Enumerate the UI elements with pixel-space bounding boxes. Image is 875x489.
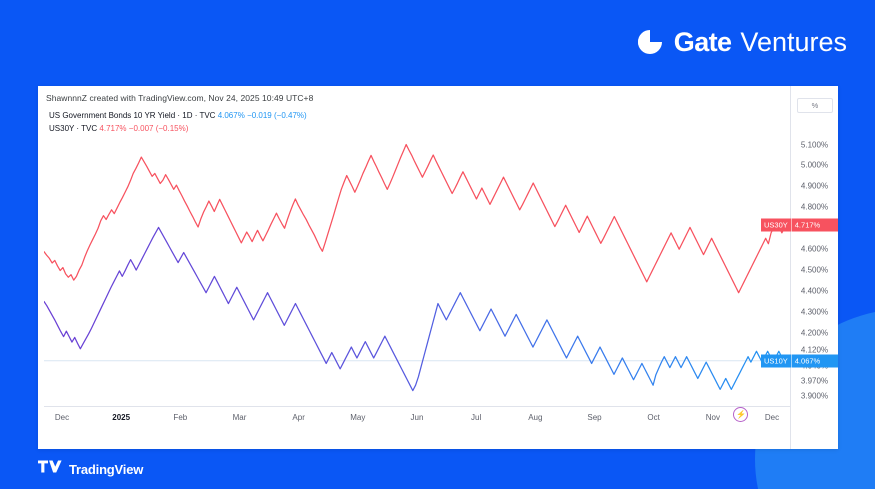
price-axis-tick: 4.800% xyxy=(791,203,838,212)
price-axis-tick: 4.200% xyxy=(791,328,838,337)
price-axis-tick: 4.400% xyxy=(791,287,838,296)
time-axis-tick: Apr xyxy=(292,413,304,422)
time-axis-tick: Jun xyxy=(411,413,424,422)
price-axis-tick: 5.000% xyxy=(791,161,838,170)
time-axis-tick: May xyxy=(350,413,365,422)
time-axis-tick: Dec xyxy=(55,413,69,422)
price-tag-symbol: US10Y xyxy=(761,354,791,367)
time-axis-tick: Aug xyxy=(528,413,542,422)
chart-plot-area[interactable] xyxy=(44,132,790,404)
time-axis-tick: Nov xyxy=(706,413,720,422)
series-line-us30y xyxy=(44,145,790,293)
price-axis-tick: 4.300% xyxy=(791,307,838,316)
price-tag-us30y[interactable]: US30Y4.717% xyxy=(761,218,838,231)
chart-attribution: ShawnnnZ created with TradingView.com, N… xyxy=(46,93,313,103)
legend-last-us10y: 4.067% xyxy=(218,111,245,120)
legend-change-us10y: −0.019 xyxy=(247,111,272,120)
brand-suffix: Ventures xyxy=(740,29,847,56)
price-axis-tick: 4.500% xyxy=(791,266,838,275)
legend-change-pct-us10y: (−0.47%) xyxy=(274,111,307,120)
time-axis-tick: 2025 xyxy=(112,413,130,422)
time-axis-tick: Mar xyxy=(233,413,247,422)
tradingview-footer-text: TradingView xyxy=(69,462,143,477)
gate-logo-icon xyxy=(635,27,665,57)
chart-card: ShawnnnZ created with TradingView.com, N… xyxy=(38,86,838,449)
price-tag-value: 4.067% xyxy=(791,354,823,367)
price-axis-tick: 3.970% xyxy=(791,376,838,385)
tradingview-logo-icon xyxy=(38,459,62,479)
price-tag-us10y[interactable]: US10Y4.067% xyxy=(761,354,838,367)
price-axis-unit[interactable]: % xyxy=(797,98,833,113)
tradingview-footer: TradingView xyxy=(38,459,143,479)
chart-svg xyxy=(44,132,790,404)
legend-row-us10y[interactable]: US Government Bonds 10 YR Yield · 1D · T… xyxy=(49,110,307,123)
price-axis-tick: 5.100% xyxy=(791,140,838,149)
price-axis-tick: 3.900% xyxy=(791,391,838,400)
time-axis-tick: Dec xyxy=(765,413,779,422)
legend-symbol-us10y: US Government Bonds 10 YR Yield · 1D · T… xyxy=(49,111,215,120)
series-line-us10y xyxy=(44,227,790,390)
price-axis-tick: 4.600% xyxy=(791,245,838,254)
price-axis[interactable]: % 5.100%5.000%4.900%4.800%4.700%4.600%4.… xyxy=(790,86,838,449)
time-axis-tick: Sep xyxy=(587,413,601,422)
time-axis-tick: Feb xyxy=(173,413,187,422)
price-axis-tick: 4.120% xyxy=(791,345,838,354)
price-axis-tick: 4.900% xyxy=(791,182,838,191)
price-tag-value: 4.717% xyxy=(791,218,823,231)
time-axis[interactable]: Dec2025FebMarAprMayJunJulAugSepOctNovDec xyxy=(44,406,790,426)
time-axis-tick: Oct xyxy=(647,413,659,422)
price-tag-symbol: US30Y xyxy=(761,218,791,231)
time-axis-tick: Jul xyxy=(471,413,481,422)
brand-name: Gate xyxy=(674,29,732,56)
brand-header: Gate Ventures xyxy=(635,27,847,57)
